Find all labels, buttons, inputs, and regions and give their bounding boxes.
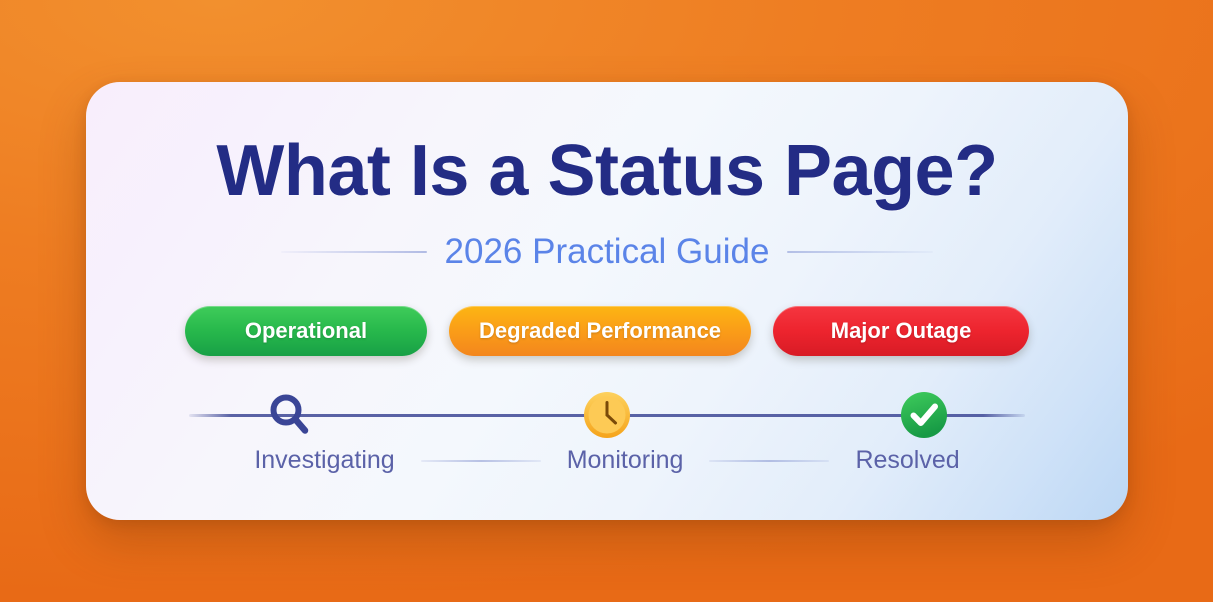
timeline-connector-1 <box>421 460 541 462</box>
magnifier-icon <box>264 389 316 441</box>
timeline-label-row: Investigating Monitoring Resolved <box>189 446 1025 475</box>
timeline-label-monitoring: Monitoring <box>567 446 684 475</box>
timeline-label-investigating: Investigating <box>254 446 394 475</box>
check-circle-icon <box>898 389 950 441</box>
timeline-step-resolved[interactable] <box>895 386 953 444</box>
timeline-step-investigating[interactable] <box>261 386 319 444</box>
clock-icon <box>581 389 633 441</box>
page-title: What Is a Status Page? <box>86 130 1128 212</box>
timeline-label-resolved: Resolved <box>855 446 959 475</box>
timeline-step-monitoring[interactable] <box>578 386 636 444</box>
page-subtitle: 2026 Practical Guide <box>445 232 770 272</box>
status-page-infographic-card: What Is a Status Page? 2026 Practical Gu… <box>86 82 1128 520</box>
incident-lifecycle-timeline: Investigating Monitoring Resolved <box>189 328 1025 438</box>
timeline-node-row <box>189 386 1025 444</box>
subtitle-row: 2026 Practical Guide <box>86 232 1128 272</box>
timeline-connector-2 <box>709 460 829 462</box>
subtitle-divider-right <box>787 251 933 253</box>
subtitle-divider-left <box>281 251 427 253</box>
